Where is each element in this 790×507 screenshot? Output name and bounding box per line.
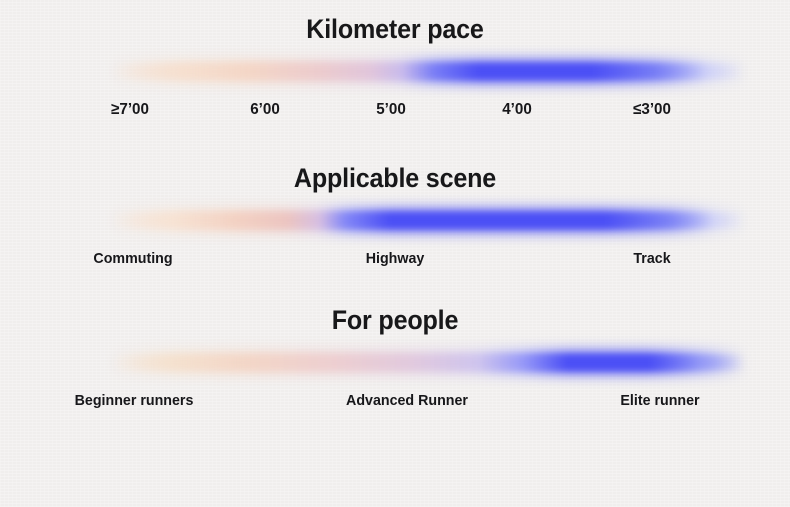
gradient-bar-core [110, 355, 745, 370]
scale-label: Commuting [93, 250, 172, 267]
gradient-bar-applicable-scene [0, 204, 790, 238]
scale-label: 4’00 [503, 101, 533, 119]
section-heading: Applicable scene [28, 163, 763, 194]
section-heading: Kilometer pace [28, 14, 763, 45]
gradient-bar-for-people [0, 346, 790, 380]
label-row-applicable-scene: Commuting Highway Track [0, 250, 790, 274]
gradient-bar-core [110, 213, 745, 228]
scale-label: Advanced Runner [346, 392, 468, 409]
gradient-bar-kilometer-pace [0, 55, 790, 89]
scale-label: Track [633, 250, 670, 267]
section-for-people: For people Beginner runners Advanced Run… [0, 305, 790, 416]
scale-label: ≥7’00 [111, 101, 149, 119]
label-row-for-people: Beginner runners Advanced Runner Elite r… [0, 392, 790, 416]
scale-label: Elite runner [620, 392, 699, 409]
section-kilometer-pace: Kilometer pace ≥7’00 6’00 5’00 4’00 ≤3’0… [0, 14, 790, 125]
gradient-bar-core [110, 64, 745, 79]
scale-label: 5’00 [376, 101, 406, 119]
label-row-kilometer-pace: ≥7’00 6’00 5’00 4’00 ≤3’00 [0, 101, 790, 125]
section-heading: For people [28, 305, 763, 336]
scale-label: 6’00 [250, 101, 280, 119]
scale-label: Beginner runners [75, 392, 194, 409]
scale-label: ≤3’00 [633, 101, 671, 119]
scale-label: Highway [366, 250, 425, 267]
section-applicable-scene: Applicable scene Commuting Highway Track [0, 163, 790, 274]
